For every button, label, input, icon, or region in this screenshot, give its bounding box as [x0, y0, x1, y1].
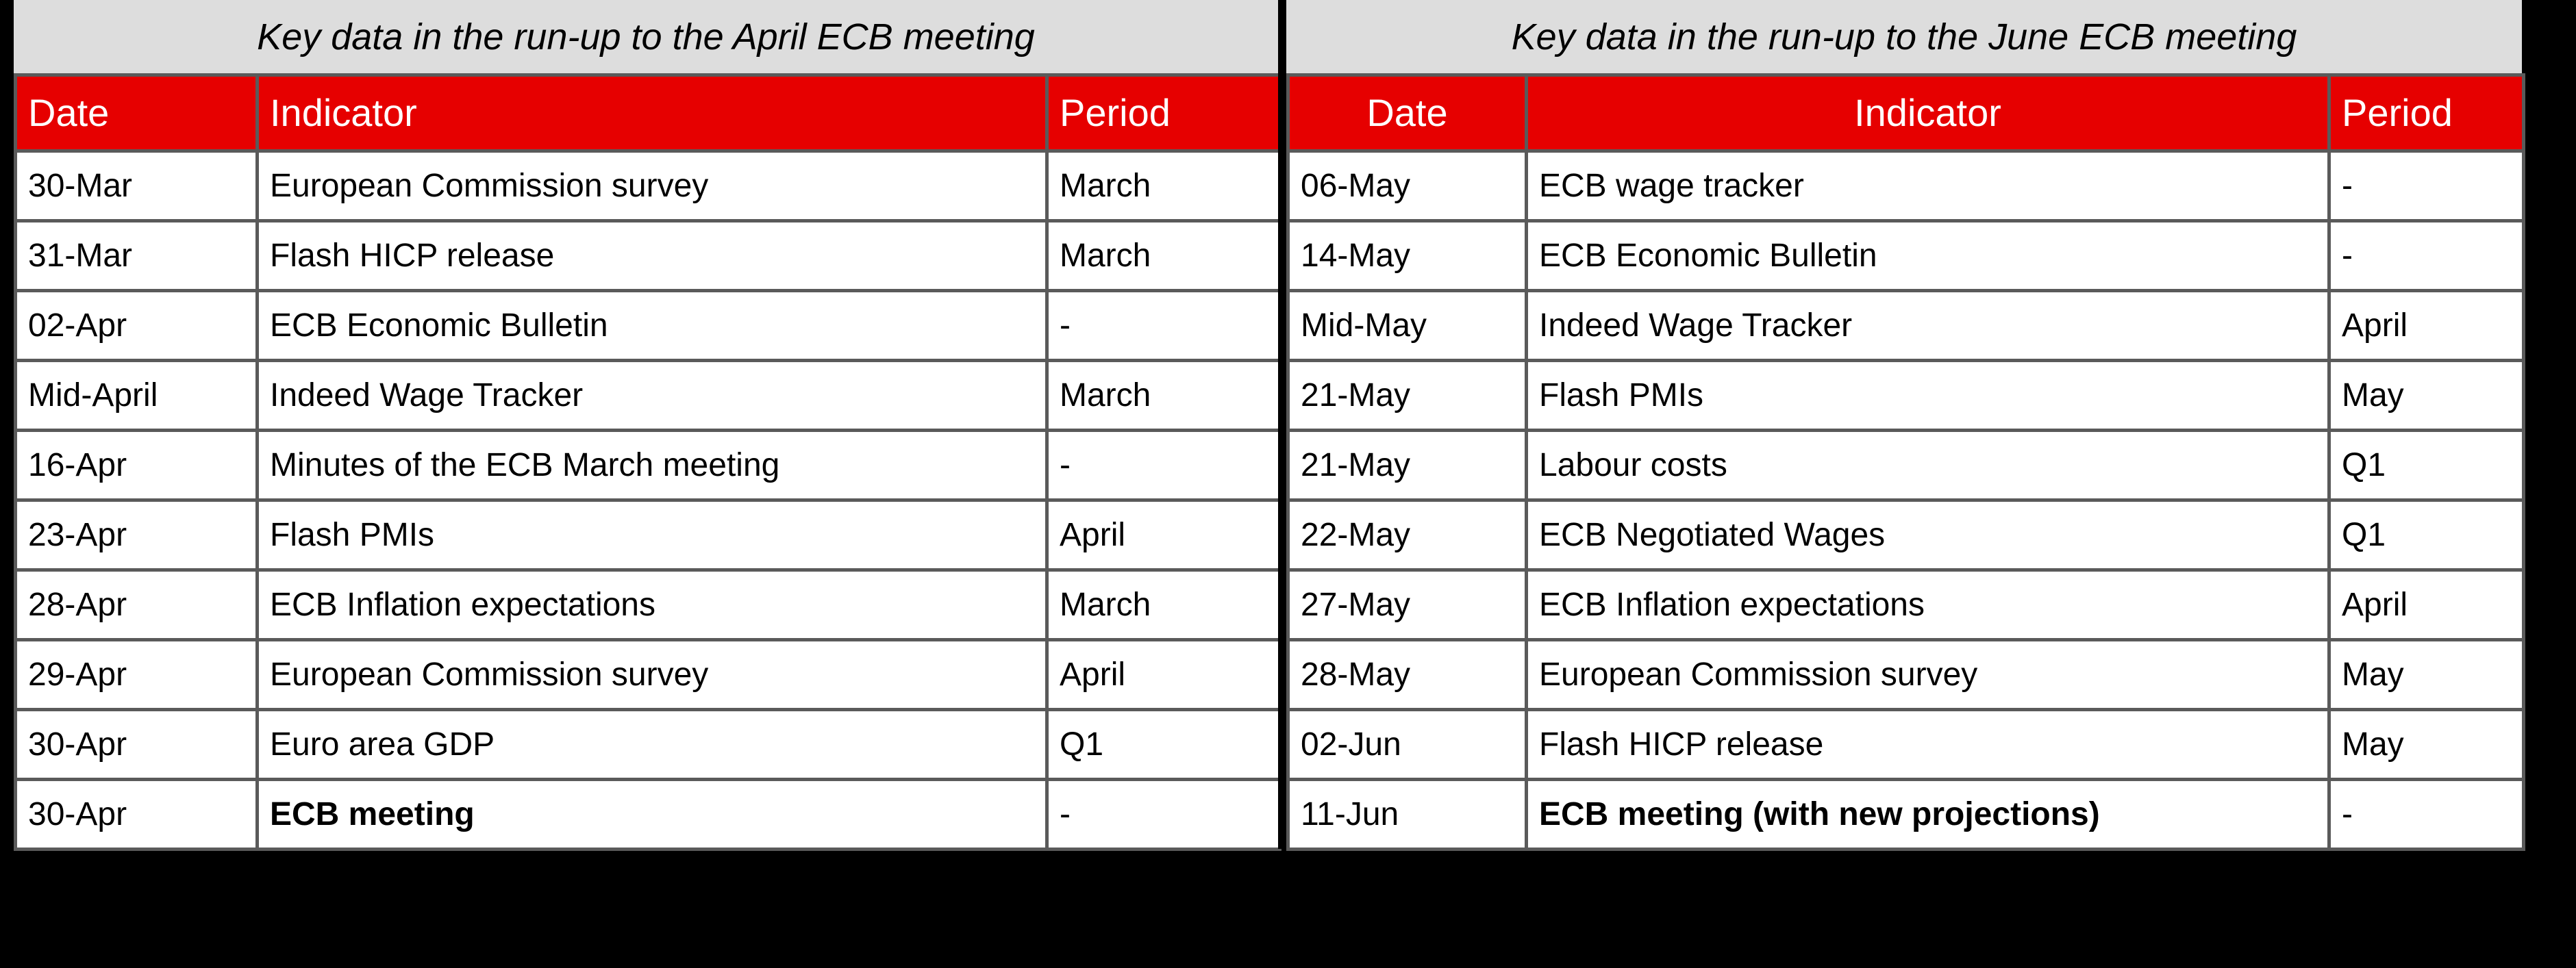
cell-indicator: ECB meeting (with new projections) [1527, 780, 2329, 850]
table-row: Mid-April Indeed Wage Tracker March [16, 361, 1280, 431]
cell-date: 28-Apr [16, 570, 258, 640]
table-row: 21-May Labour costs Q1 [1288, 431, 2524, 500]
table-june: Date Indicator Period 06-May ECB wage tr… [1286, 73, 2525, 851]
column-header-period[interactable]: Period [1047, 75, 1280, 151]
cell-date: 22-May [1288, 500, 1527, 570]
cell-period: April [2329, 570, 2524, 640]
cell-date: 30-Mar [16, 151, 258, 221]
table-row: 14-May ECB Economic Bulletin - [1288, 221, 2524, 291]
cell-indicator: ECB Negotiated Wages [1527, 500, 2329, 570]
table-row: 28-May European Commission survey May [1288, 640, 2524, 710]
cell-indicator: European Commission survey [258, 151, 1047, 221]
panel-april-title-bar: Key data in the run-up to the April ECB … [14, 0, 1278, 73]
cell-indicator: Indeed Wage Tracker [258, 361, 1047, 431]
cell-date: Mid-May [1288, 291, 1527, 361]
table-row-highlight: 11-Jun ECB meeting (with new projections… [1288, 780, 2524, 850]
cell-date: 21-May [1288, 361, 1527, 431]
cell-period: May [2329, 710, 2524, 780]
cell-indicator: Flash PMIs [258, 500, 1047, 570]
cell-indicator: ECB wage tracker [1527, 151, 2329, 221]
cell-indicator: Labour costs [1527, 431, 2329, 500]
cell-indicator: Flash HICP release [258, 221, 1047, 291]
panel-june-title-bar: Key data in the run-up to the June ECB m… [1286, 0, 2522, 73]
table-row: Mid-May Indeed Wage Tracker April [1288, 291, 2524, 361]
cell-period: - [2329, 780, 2524, 850]
cell-period: April [1047, 500, 1280, 570]
cell-period: Q1 [2329, 500, 2524, 570]
cell-period: Q1 [1047, 710, 1280, 780]
cell-period: May [2329, 361, 2524, 431]
cell-indicator: European Commission survey [1527, 640, 2329, 710]
cell-date: 02-Apr [16, 291, 258, 361]
cell-indicator: ECB Inflation expectations [258, 570, 1047, 640]
cell-period: April [1047, 640, 1280, 710]
table-row: 29-Apr European Commission survey April [16, 640, 1280, 710]
cell-date: 14-May [1288, 221, 1527, 291]
cell-indicator: European Commission survey [258, 640, 1047, 710]
cell-date: 30-Apr [16, 780, 258, 850]
table-row-highlight: 30-Apr ECB meeting - [16, 780, 1280, 850]
cell-period: March [1047, 221, 1280, 291]
table-row: 02-Jun Flash HICP release May [1288, 710, 2524, 780]
panel-divider [1278, 0, 1286, 849]
table-row: 30-Apr Euro area GDP Q1 [16, 710, 1280, 780]
table-row: 16-Apr Minutes of the ECB March meeting … [16, 431, 1280, 500]
cell-period: March [1047, 570, 1280, 640]
table-row: 27-May ECB Inflation expectations April [1288, 570, 2524, 640]
cell-indicator: ECB meeting [258, 780, 1047, 850]
cell-period: - [1047, 780, 1280, 850]
cell-date: 23-Apr [16, 500, 258, 570]
panel-april-title: Key data in the run-up to the April ECB … [257, 18, 1035, 55]
cell-indicator: ECB Economic Bulletin [1527, 221, 2329, 291]
table-april: Date Indicator Period 30-Mar European Co… [14, 73, 1281, 851]
table-row: 02-Apr ECB Economic Bulletin - [16, 291, 1280, 361]
cell-date: 02-Jun [1288, 710, 1527, 780]
cell-period: March [1047, 361, 1280, 431]
cell-date: 27-May [1288, 570, 1527, 640]
column-header-indicator[interactable]: Indicator [1527, 75, 2329, 151]
cell-period: - [1047, 291, 1280, 361]
table-april-body: 30-Mar European Commission survey March … [16, 151, 1280, 850]
column-header-date[interactable]: Date [1288, 75, 1527, 151]
cell-period: - [2329, 151, 2524, 221]
cell-period: March [1047, 151, 1280, 221]
table-row: 22-May ECB Negotiated Wages Q1 [1288, 500, 2524, 570]
cell-indicator: ECB Inflation expectations [1527, 570, 2329, 640]
cell-date: 31-Mar [16, 221, 258, 291]
table-row: 31-Mar Flash HICP release March [16, 221, 1280, 291]
column-header-indicator[interactable]: Indicator [258, 75, 1047, 151]
cell-date: 06-May [1288, 151, 1527, 221]
cell-date: 21-May [1288, 431, 1527, 500]
panel-june: Key data in the run-up to the June ECB m… [1286, 0, 2522, 851]
column-header-period[interactable]: Period [2329, 75, 2524, 151]
table-june-body: 06-May ECB wage tracker - 14-May ECB Eco… [1288, 151, 2524, 850]
table-row: 30-Mar European Commission survey March [16, 151, 1280, 221]
cell-date: 11-Jun [1288, 780, 1527, 850]
cell-indicator: Flash PMIs [1527, 361, 2329, 431]
cell-date: 29-Apr [16, 640, 258, 710]
table-row: 21-May Flash PMIs May [1288, 361, 2524, 431]
slide-canvas: Key data in the run-up to the April ECB … [0, 0, 2576, 968]
cell-period: Q1 [2329, 431, 2524, 500]
cell-period: - [2329, 221, 2524, 291]
cell-date: Mid-April [16, 361, 258, 431]
cell-date: 30-Apr [16, 710, 258, 780]
cell-indicator: Euro area GDP [258, 710, 1047, 780]
cell-period: April [2329, 291, 2524, 361]
table-june-header-row: Date Indicator Period [1288, 75, 2524, 151]
cell-indicator: ECB Economic Bulletin [258, 291, 1047, 361]
column-header-date[interactable]: Date [16, 75, 258, 151]
table-row: 23-Apr Flash PMIs April [16, 500, 1280, 570]
cell-indicator: Flash HICP release [1527, 710, 2329, 780]
table-april-header-row: Date Indicator Period [16, 75, 1280, 151]
panel-april: Key data in the run-up to the April ECB … [14, 0, 1278, 851]
cell-indicator: Indeed Wage Tracker [1527, 291, 2329, 361]
panel-june-title: Key data in the run-up to the June ECB m… [1512, 18, 2297, 55]
cell-indicator: Minutes of the ECB March meeting [258, 431, 1047, 500]
cell-period: May [2329, 640, 2524, 710]
cell-date: 16-Apr [16, 431, 258, 500]
table-row: 28-Apr ECB Inflation expectations March [16, 570, 1280, 640]
cell-period: - [1047, 431, 1280, 500]
cell-date: 28-May [1288, 640, 1527, 710]
table-row: 06-May ECB wage tracker - [1288, 151, 2524, 221]
